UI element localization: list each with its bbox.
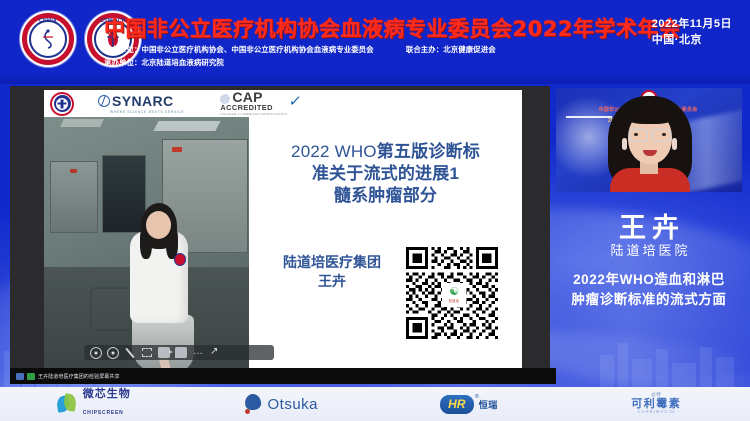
globe-icon [98, 95, 110, 107]
conference-banner: CNMIA CSMIACH 中国非公立医疗机构协会血液病专业委员会2022年学术… [0, 0, 750, 84]
hengrui-mark-text: HR [448, 398, 465, 410]
chat-icon[interactable] [175, 347, 187, 358]
check-icon: ✓ [287, 92, 302, 110]
more-icon[interactable]: … [192, 347, 204, 358]
speaker-topic: 2022年WHO造血和淋巴 肿瘤诊断标准的流式方面 [556, 270, 742, 311]
carrimycin-logo-icon: 必特 可利霉素 CARRIMYCIN [631, 393, 681, 415]
screen-share-frame[interactable]: SYNARC WHERE SCIENCE MEETS SERVICE CAP A… [10, 86, 550, 384]
sponsor-chipscreen-cn: 微芯生物 [83, 389, 131, 401]
cap-logo: CAP ACCREDITED COLLEGE of AMERICAN PATHO… [220, 91, 287, 117]
sponsor-otsuka-name: Otsuka [267, 396, 318, 413]
organizer-line: 承办单位：北京陆道培血液病研究院 [104, 57, 664, 68]
camera-icon[interactable] [158, 347, 170, 358]
share-icon[interactable] [209, 347, 221, 358]
sponsor-chipscreen: 微芯生物 CHIPSCREEN [0, 389, 188, 419]
slide-title-line1-cn: 第五版诊断标 [377, 142, 480, 161]
speaker-panel: 中国非公立医疗机构协会血液病专业委员会 2022 王卉 陆道培医院 2022年W… [556, 88, 742, 380]
annotate-icon[interactable] [124, 347, 136, 358]
synarc-name: SYNARC [112, 93, 174, 109]
event-location: 中国·北京 [652, 33, 732, 49]
sponsor-hengrui-name: 恒瑞 [479, 398, 498, 411]
monitor-icon [16, 373, 24, 380]
host-line: 主办单位：中国非公立医疗机构协会、中国非公立医疗机构协会血液病专业委员会 联合主… [104, 44, 664, 55]
slide-presenter-org: 陆道培医疗集团 [283, 254, 381, 270]
qr-center-logo: ☯ 陆道培 [442, 283, 466, 307]
slide-title: 2022 WHO第五版诊断标 准关于流式的进展1 髓系肿瘤部分 [249, 141, 522, 206]
slide-title-line1-en: 2022 WHO [291, 142, 377, 161]
screen-share-status-bar: 王卉陆道培医疗集团的检验屏幕共享 [10, 368, 556, 384]
chipscreen-logo-icon [57, 394, 78, 413]
broadcast-screen: CNMIA CSMIACH 中国非公立医疗机构协会血液病专业委员会2022年学术… [0, 0, 750, 421]
cnmia-logo-text: CNMIA [20, 18, 76, 24]
video-player-toolbar[interactable]: … [84, 345, 274, 360]
doctor-lab-photo [44, 117, 249, 370]
presentation-slide[interactable]: SYNARC WHERE SCIENCE MEETS SERVICE CAP A… [44, 90, 522, 370]
joint-host: 联合主办：北京健康促进会 [406, 45, 496, 54]
cap-tagline: COLLEGE of AMERICAN PATHOLOGISTS [220, 112, 287, 116]
slide-logo-row: SYNARC WHERE SCIENCE MEETS SERVICE CAP A… [44, 90, 522, 117]
qr-code[interactable]: ☯ 陆道培 [404, 245, 504, 345]
synarc-tagline: WHERE SCIENCE MEETS SERVICE [110, 110, 184, 114]
download-icon [27, 373, 35, 380]
slide-title-line2: 准关于流式的进展1 [312, 164, 459, 183]
event-datetime: 2022年11月5日 中国·北京 [652, 17, 732, 49]
cap-accredited: ACCREDITED [220, 104, 287, 111]
qr-logo-glyph: ☯ [449, 287, 459, 298]
slide-presenter-name: 王卉 [318, 273, 346, 289]
sponsor-hengrui: HR ® 恒瑞 [375, 395, 563, 414]
synarc-logo: SYNARC WHERE SCIENCE MEETS SERVICE [98, 93, 184, 114]
hospital-seal-icon [50, 92, 74, 116]
sponsor-chipscreen-en: CHIPSCREEN [83, 410, 124, 416]
conference-title: 中国非公立医疗机构协会血液病专业委员会2022年学术年会 [104, 19, 624, 40]
slide-body: 2022 WHO第五版诊断标 准关于流式的进展1 髓系肿瘤部分 陆道培医疗集团 … [44, 117, 522, 370]
record-icon[interactable] [90, 347, 102, 359]
event-date: 2022年11月5日 [652, 17, 732, 33]
select-icon[interactable] [141, 347, 153, 358]
otsuka-logo-icon [244, 394, 262, 414]
slide-text-area: 2022 WHO第五版诊断标 准关于流式的进展1 髓系肿瘤部分 陆道培医疗集团 … [249, 117, 522, 370]
sponsor-carrimycin-en: CARRIMYCIN [637, 410, 675, 415]
slide-title-line3: 髓系肿瘤部分 [334, 186, 437, 205]
sponsor-carrimycin: 必特 可利霉素 CARRIMYCIN [563, 393, 750, 415]
slide-presenter: 陆道培医疗集团 王卉 [257, 253, 407, 291]
hengrui-logo-icon: HR ® [440, 395, 474, 414]
speaker-topic-line1: 2022年WHO造血和淋巴 [573, 272, 725, 287]
cnmia-logo-icon: CNMIA [20, 11, 76, 67]
status-bar-text: 王卉陆道培医疗集团的检验屏幕共享 [38, 373, 120, 380]
sponsor-bar: 微芯生物 CHIPSCREEN Otsuka HR ® 恒瑞 必特 可利霉素 C… [0, 387, 750, 421]
doctor-figure [116, 195, 204, 370]
speaker-video-tile[interactable]: 中国非公立医疗机构协会血液病专业委员会 2022 [556, 88, 742, 192]
speaker-portrait [600, 96, 700, 192]
stop-icon[interactable] [107, 347, 119, 359]
sponsor-otsuka: Otsuka [188, 394, 376, 414]
host-organizers: 主办单位：中国非公立医疗机构协会、中国非公立医疗机构协会血液病专业委员会 [104, 45, 374, 54]
qr-logo-caption: 陆道培 [449, 298, 459, 303]
speaker-organization: 陆道培医院 [556, 240, 742, 259]
cap-name: CAP [232, 91, 262, 104]
speaker-topic-line2: 肿瘤诊断标准的流式方面 [571, 292, 726, 307]
